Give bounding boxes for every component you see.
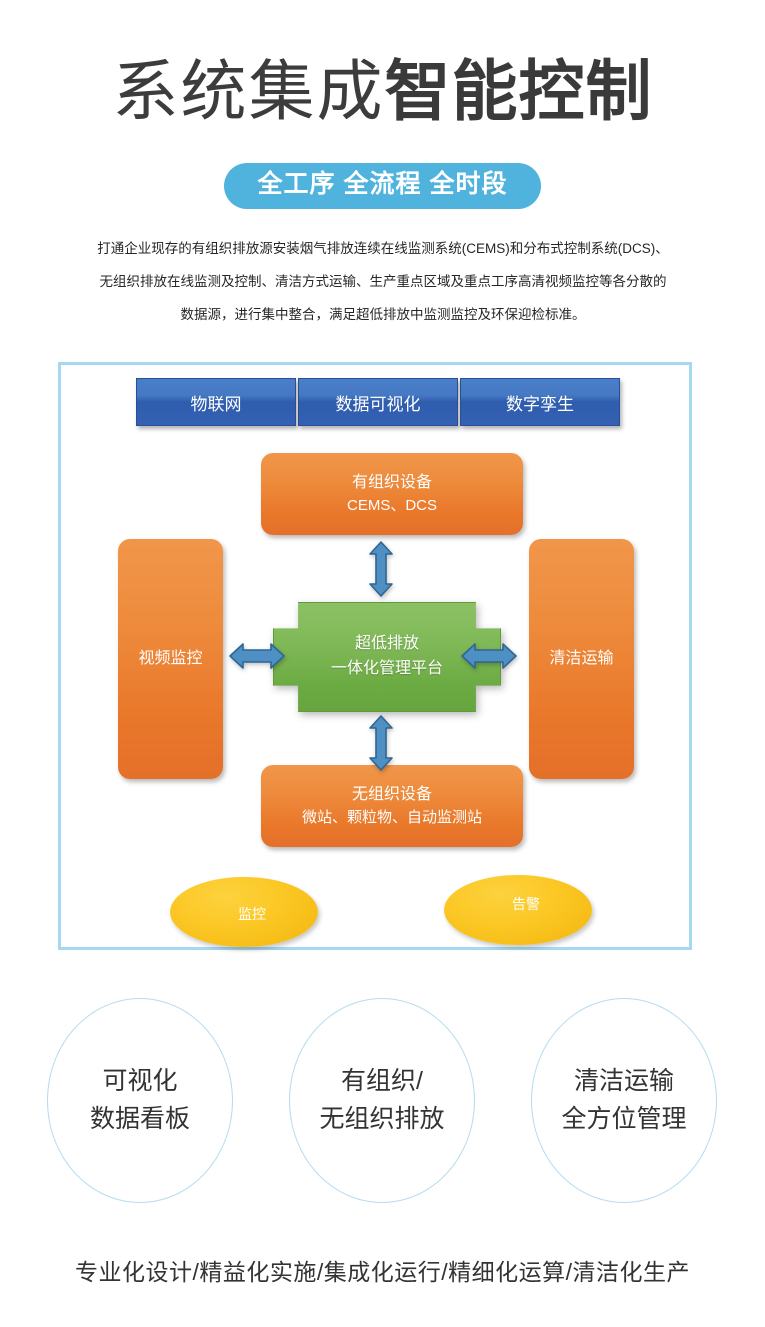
clean-transport-label: 清洁运输 xyxy=(549,647,613,671)
badge-row: 全工序 全流程 全时段 xyxy=(0,163,765,209)
intro-line-2: 无组织排放在线监测及控制、清洁方式运输、生产重点区域及重点工序高清视频监控等各分… xyxy=(58,265,708,298)
center-platform-line-2: 一体化管理平台 xyxy=(331,657,443,682)
feature-circle-visualization-line-1: 可视化 xyxy=(102,1063,177,1101)
diagram-box-data-visualization: 数据可视化 xyxy=(298,378,458,426)
double-arrow-vertical-icon xyxy=(368,541,394,597)
feature-circle-visualization: 可视化 数据看板 xyxy=(47,998,233,1203)
diagram-box-unorganized-device: 无组织设备 微站、颗粒物、自动监测站 xyxy=(261,765,523,847)
diagram-box-video-monitoring: 视频监控 xyxy=(118,539,223,779)
intro-line-1: 打通企业现存的有组织排放源安装烟气排放连续在线监测系统(CEMS)和分布式控制系… xyxy=(58,232,708,265)
feature-circle-transport-line-1: 清洁运输 xyxy=(574,1063,674,1101)
feature-circle-row: 可视化 数据看板 有组织/ 无组织排放 清洁运输 全方位管理 xyxy=(0,998,765,1203)
unorganized-device-subtitle: 微站、颗粒物、自动监测站 xyxy=(302,807,482,830)
feature-circle-transport: 清洁运输 全方位管理 xyxy=(531,998,717,1203)
page-title-light: 系统集成 xyxy=(113,54,385,128)
status-badge: 全工序 全流程 全时段 xyxy=(224,163,542,209)
feature-circle-visualization-line-2: 数据看板 xyxy=(90,1101,190,1139)
intro-paragraph: 打通企业现存的有组织排放源安装烟气排放连续在线监测系统(CEMS)和分布式控制系… xyxy=(58,232,708,331)
diagram-box-organized-device: 有组织设备 CEMS、DCS xyxy=(261,453,523,535)
page-title-bold: 智能控制 xyxy=(385,54,653,128)
monitoring-ellipse-label: 监控 xyxy=(238,904,266,924)
feature-circle-transport-line-2: 全方位管理 xyxy=(561,1101,686,1139)
video-monitoring-label: 视频监控 xyxy=(138,647,202,671)
feature-circle-emissions-line-2: 无组织排放 xyxy=(319,1101,444,1139)
double-arrow-horizontal-icon xyxy=(461,640,517,672)
feature-circle-emissions: 有组织/ 无组织排放 xyxy=(289,998,475,1203)
double-arrow-vertical-icon xyxy=(368,715,394,771)
unorganized-device-title: 无组织设备 xyxy=(352,783,432,807)
architecture-diagram: 物联网 数据可视化 数字孪生 有组织设备 CEMS、DCS 无组织设备 微站、颗… xyxy=(58,362,692,950)
diagram-ellipse-alarm: 告警 xyxy=(444,875,592,945)
diagram-box-clean-transport: 清洁运输 xyxy=(529,539,634,779)
page-title: 系统集成智能控制 xyxy=(0,58,765,124)
diagram-box-digital-twin-label: 数字孪生 xyxy=(506,390,574,415)
diagram-box-iot-label: 物联网 xyxy=(191,390,242,415)
diagram-box-digital-twin: 数字孪生 xyxy=(460,378,620,426)
diagram-box-data-visualization-label: 数据可视化 xyxy=(336,390,421,415)
alarm-ellipse-label: 告警 xyxy=(512,894,540,914)
diagram-ellipse-monitoring: 监控 xyxy=(170,877,318,947)
organized-device-title: 有组织设备 xyxy=(352,471,432,495)
double-arrow-horizontal-icon xyxy=(229,640,285,672)
organized-device-subtitle: CEMS、DCS xyxy=(347,495,437,518)
intro-line-3: 数据源，进行集中整合，满足超低排放中监测监控及环保迎检标准。 xyxy=(58,298,708,331)
diagram-box-iot: 物联网 xyxy=(136,378,296,426)
diagram-canvas: 物联网 数据可视化 数字孪生 有组织设备 CEMS、DCS 无组织设备 微站、颗… xyxy=(61,365,689,947)
feature-circle-emissions-line-1: 有组织/ xyxy=(341,1063,423,1101)
footer-tagline: 专业化设计/精益化实施/集成化运行/精细化运算/清洁化生产 xyxy=(0,1253,765,1287)
center-platform-line-1: 超低排放 xyxy=(355,632,419,657)
